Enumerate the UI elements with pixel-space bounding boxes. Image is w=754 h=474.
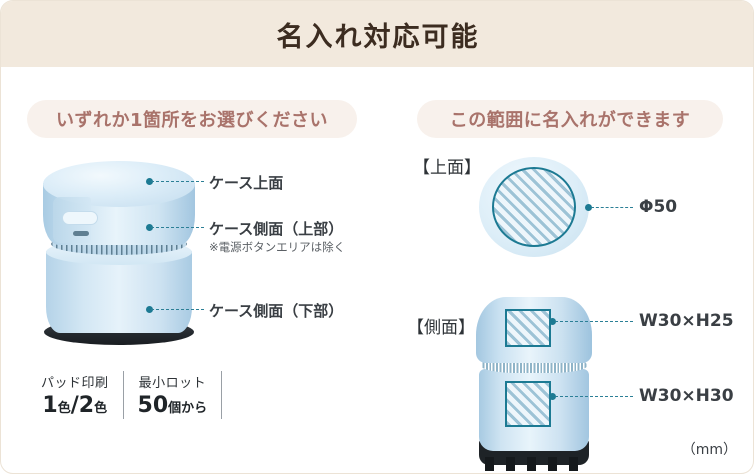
callout-label-case-side-upper: ケース側面（上部） bbox=[209, 218, 343, 239]
spec-pad-print-value: 1色/2色 bbox=[42, 393, 107, 418]
view-label-side: 【側面】 bbox=[407, 313, 475, 338]
dimension-leader-side-upper bbox=[555, 321, 633, 323]
side-view-illustration bbox=[471, 289, 597, 474]
page-title: 名入れ対応可能 bbox=[277, 15, 480, 54]
left-panel-pill: いずれか1箇所をお選びください bbox=[27, 100, 357, 138]
dimension-leader-top bbox=[591, 207, 633, 209]
dimension-leader-side-lower bbox=[555, 396, 633, 398]
left-panel: いずれか1箇所をお選びください ケース上面 ケース側面（上部） ※電源ボタンエリ… bbox=[1, 67, 399, 474]
name-printing-card: 名入れ対応可能 いずれか1箇所をお選びください ケース上面 ケース側面（上部） … bbox=[0, 0, 754, 474]
spec-min-lot-head: 最小ロット bbox=[139, 372, 207, 391]
callout-label-case-top: ケース上面 bbox=[209, 172, 283, 193]
spec-min-lot-n1: 50 bbox=[138, 393, 169, 418]
power-button-icon bbox=[62, 211, 98, 225]
top-view-illustration bbox=[479, 157, 589, 257]
card-header: 名入れ対応可能 bbox=[1, 1, 754, 67]
spec-min-lot: 最小ロット 50個から bbox=[124, 367, 222, 423]
dimension-label-top: Φ50 bbox=[639, 197, 677, 217]
usb-port-icon bbox=[73, 231, 89, 236]
right-panel-pill-label: この範囲に名入れができます bbox=[450, 106, 691, 132]
callout-label-case-side-lower: ケース側面（下部） bbox=[209, 300, 343, 321]
callout-leader-case-side-lower bbox=[151, 309, 204, 311]
side-view-print-area-lower bbox=[505, 381, 551, 427]
spec-pad-print-n1: 1 bbox=[42, 393, 57, 418]
spec-min-lot-u1: 個から bbox=[168, 401, 207, 416]
product-perspective-illustration bbox=[39, 159, 199, 359]
spec-pad-print-head: パッド印刷 bbox=[41, 372, 109, 391]
view-label-top: 【上面】 bbox=[413, 153, 481, 178]
callout-leader-case-top bbox=[151, 181, 204, 183]
callout-note-case-side-upper: ※電源ボタンエリアは除く bbox=[209, 239, 345, 255]
unit-note: （mm） bbox=[682, 439, 737, 459]
side-view-print-area-upper bbox=[505, 309, 551, 347]
side-view-feet bbox=[485, 457, 583, 471]
right-panel: この範囲に名入れができます 【上面】 Φ50 【側面】 W30×H25 W30×… bbox=[399, 67, 754, 474]
spec-pad-print-n2: 2 bbox=[79, 393, 94, 418]
spec-min-lot-value: 50個から bbox=[138, 393, 208, 418]
dimension-label-side-lower: W30×H30 bbox=[639, 386, 734, 406]
spec-group: パッド印刷 1色/2色 最小ロット 50個から bbox=[27, 367, 277, 423]
spec-pad-print: パッド印刷 1色/2色 bbox=[27, 367, 123, 423]
left-panel-pill-label: いずれか1箇所をお選びください bbox=[56, 106, 328, 132]
spec-pad-print-sep: / bbox=[71, 393, 79, 418]
spec-pad-print-u2: 色 bbox=[94, 401, 107, 416]
top-view-print-area bbox=[492, 167, 576, 247]
dimension-label-side-upper: W30×H25 bbox=[639, 311, 734, 331]
right-panel-pill: この範囲に名入れができます bbox=[417, 100, 723, 138]
callout-leader-case-side-upper bbox=[151, 227, 204, 229]
spec-divider-2 bbox=[221, 371, 222, 419]
spec-pad-print-u1: 色 bbox=[58, 401, 71, 416]
